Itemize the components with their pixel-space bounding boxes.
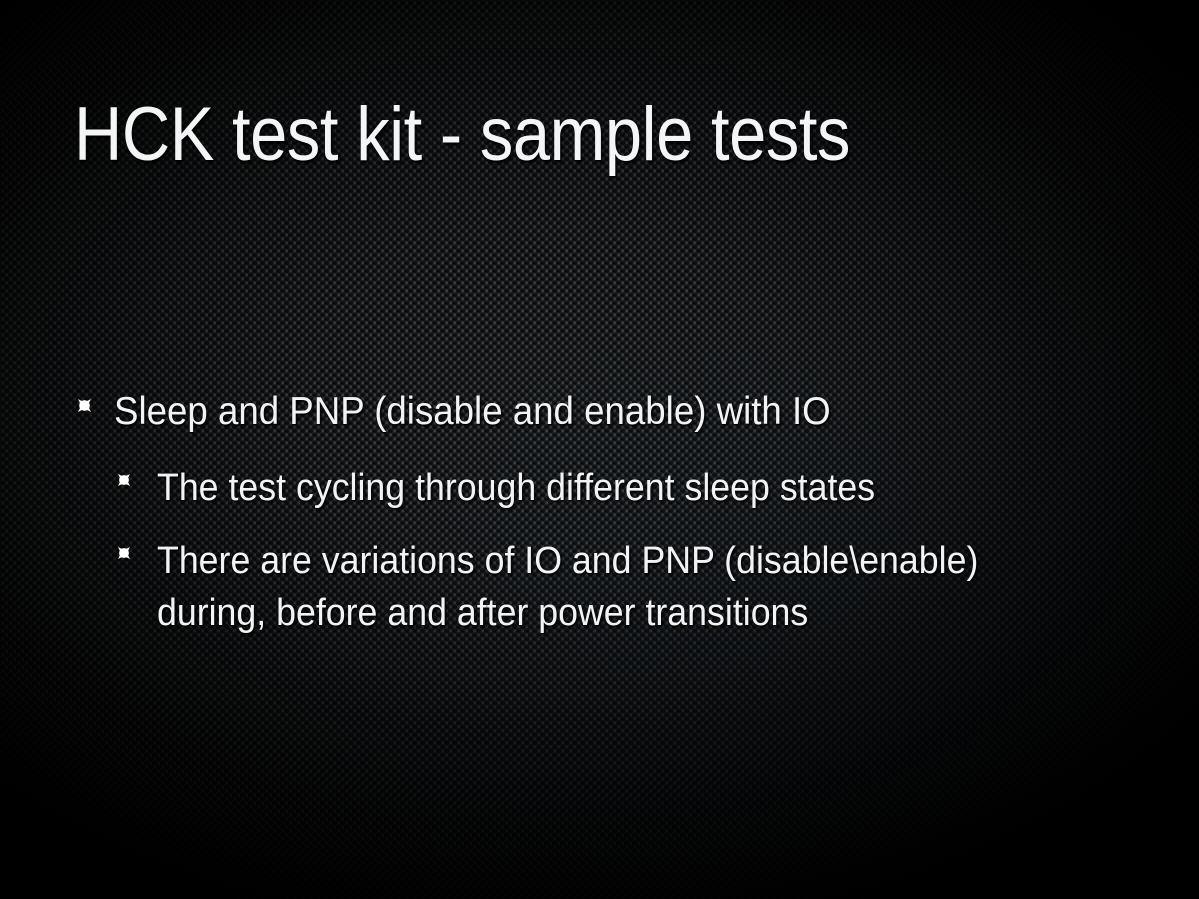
slide-body-list: Sleep and PNP (disable and enable) with … xyxy=(0,386,1199,660)
bullet-item-2: The test cycling through different sleep… xyxy=(0,462,1199,514)
slide-content: HCK test kit - sample tests Sleep and PN… xyxy=(0,0,1199,899)
bullet-text-3: There are variations of IO and PNP (disa… xyxy=(157,535,1088,639)
bullet-item-3: There are variations of IO and PNP (disa… xyxy=(0,535,1199,639)
presentation-slide: HCK test kit - sample tests Sleep and PN… xyxy=(0,0,1199,899)
bullet-text-1: Sleep and PNP (disable and enable) with … xyxy=(114,386,831,438)
four-point-star-bullet-icon xyxy=(118,547,130,559)
bullet-text-2: The test cycling through different sleep… xyxy=(157,462,875,514)
slide-title: HCK test kit - sample tests xyxy=(74,92,1007,178)
four-point-star-bullet-icon xyxy=(78,399,91,412)
bullet-item-1: Sleep and PNP (disable and enable) with … xyxy=(0,386,1199,438)
four-point-star-bullet-icon xyxy=(118,474,130,486)
